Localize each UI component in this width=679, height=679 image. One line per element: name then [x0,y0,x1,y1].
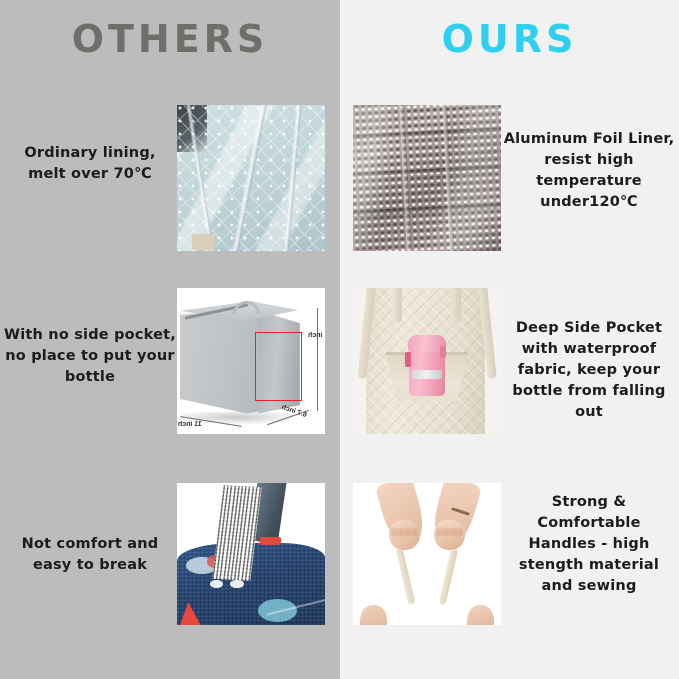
ordinary-quilted-lining-photo [177,105,325,251]
others-column-title: OTHERS [0,16,340,62]
hands-photo-background [353,483,501,625]
tote-height-dimension-line [317,308,318,410]
tote-width-label: 11 inch [178,421,202,428]
lining-care-tag [192,234,216,250]
lower-left-hand [360,605,387,625]
ours-row-2-caption: Deep Side Pocket with waterproof fabric,… [503,318,675,423]
strap-stitch-1 [210,580,223,589]
cream-bag-side-pocket-bottle-photo [353,288,501,434]
worn-mesh-strap-photo [177,483,325,625]
left-knuckles [391,527,418,540]
others-row-3-caption: Not comfort and easy to break [4,534,176,576]
ours-column-title: OURS [340,16,679,62]
comparison-infographic: OTHERS OURS Ordinary lining, melt over 7… [0,0,679,679]
others-row-1-caption: Ordinary lining, melt over 70℃ [4,143,176,185]
tote-missing-pocket-highlight-box [255,332,301,401]
tote-height-label: inch [308,332,322,339]
cream-bag-strap-right-inner [452,288,461,323]
cream-bag-strap-left-inner [393,288,402,323]
others-row-2-caption: With no side pocket, no place to put you… [4,325,176,388]
strap-stitch-2 [230,580,243,589]
right-knuckles [436,527,463,540]
rope-handles-hands-photo [353,483,501,625]
pink-bottle-clip [405,352,411,367]
aluminum-foil-liner-photo [353,105,501,251]
gray-tote-no-side-pocket-photo: inch 6.7 inch 11 inch [177,288,325,434]
gray-strap-red-tip [260,537,281,546]
foil-sheen-highlight [353,105,501,251]
pink-bottle-lug [440,346,446,358]
ours-row-3-caption: Strong & Comfortable Handles - high sten… [503,492,675,597]
pink-bottle-label-band [412,370,442,379]
lower-right-hand [467,605,494,625]
ours-row-1-caption: Aluminum Foil Liner, resist high tempera… [503,129,675,213]
cream-bag-top-edge [386,605,469,622]
